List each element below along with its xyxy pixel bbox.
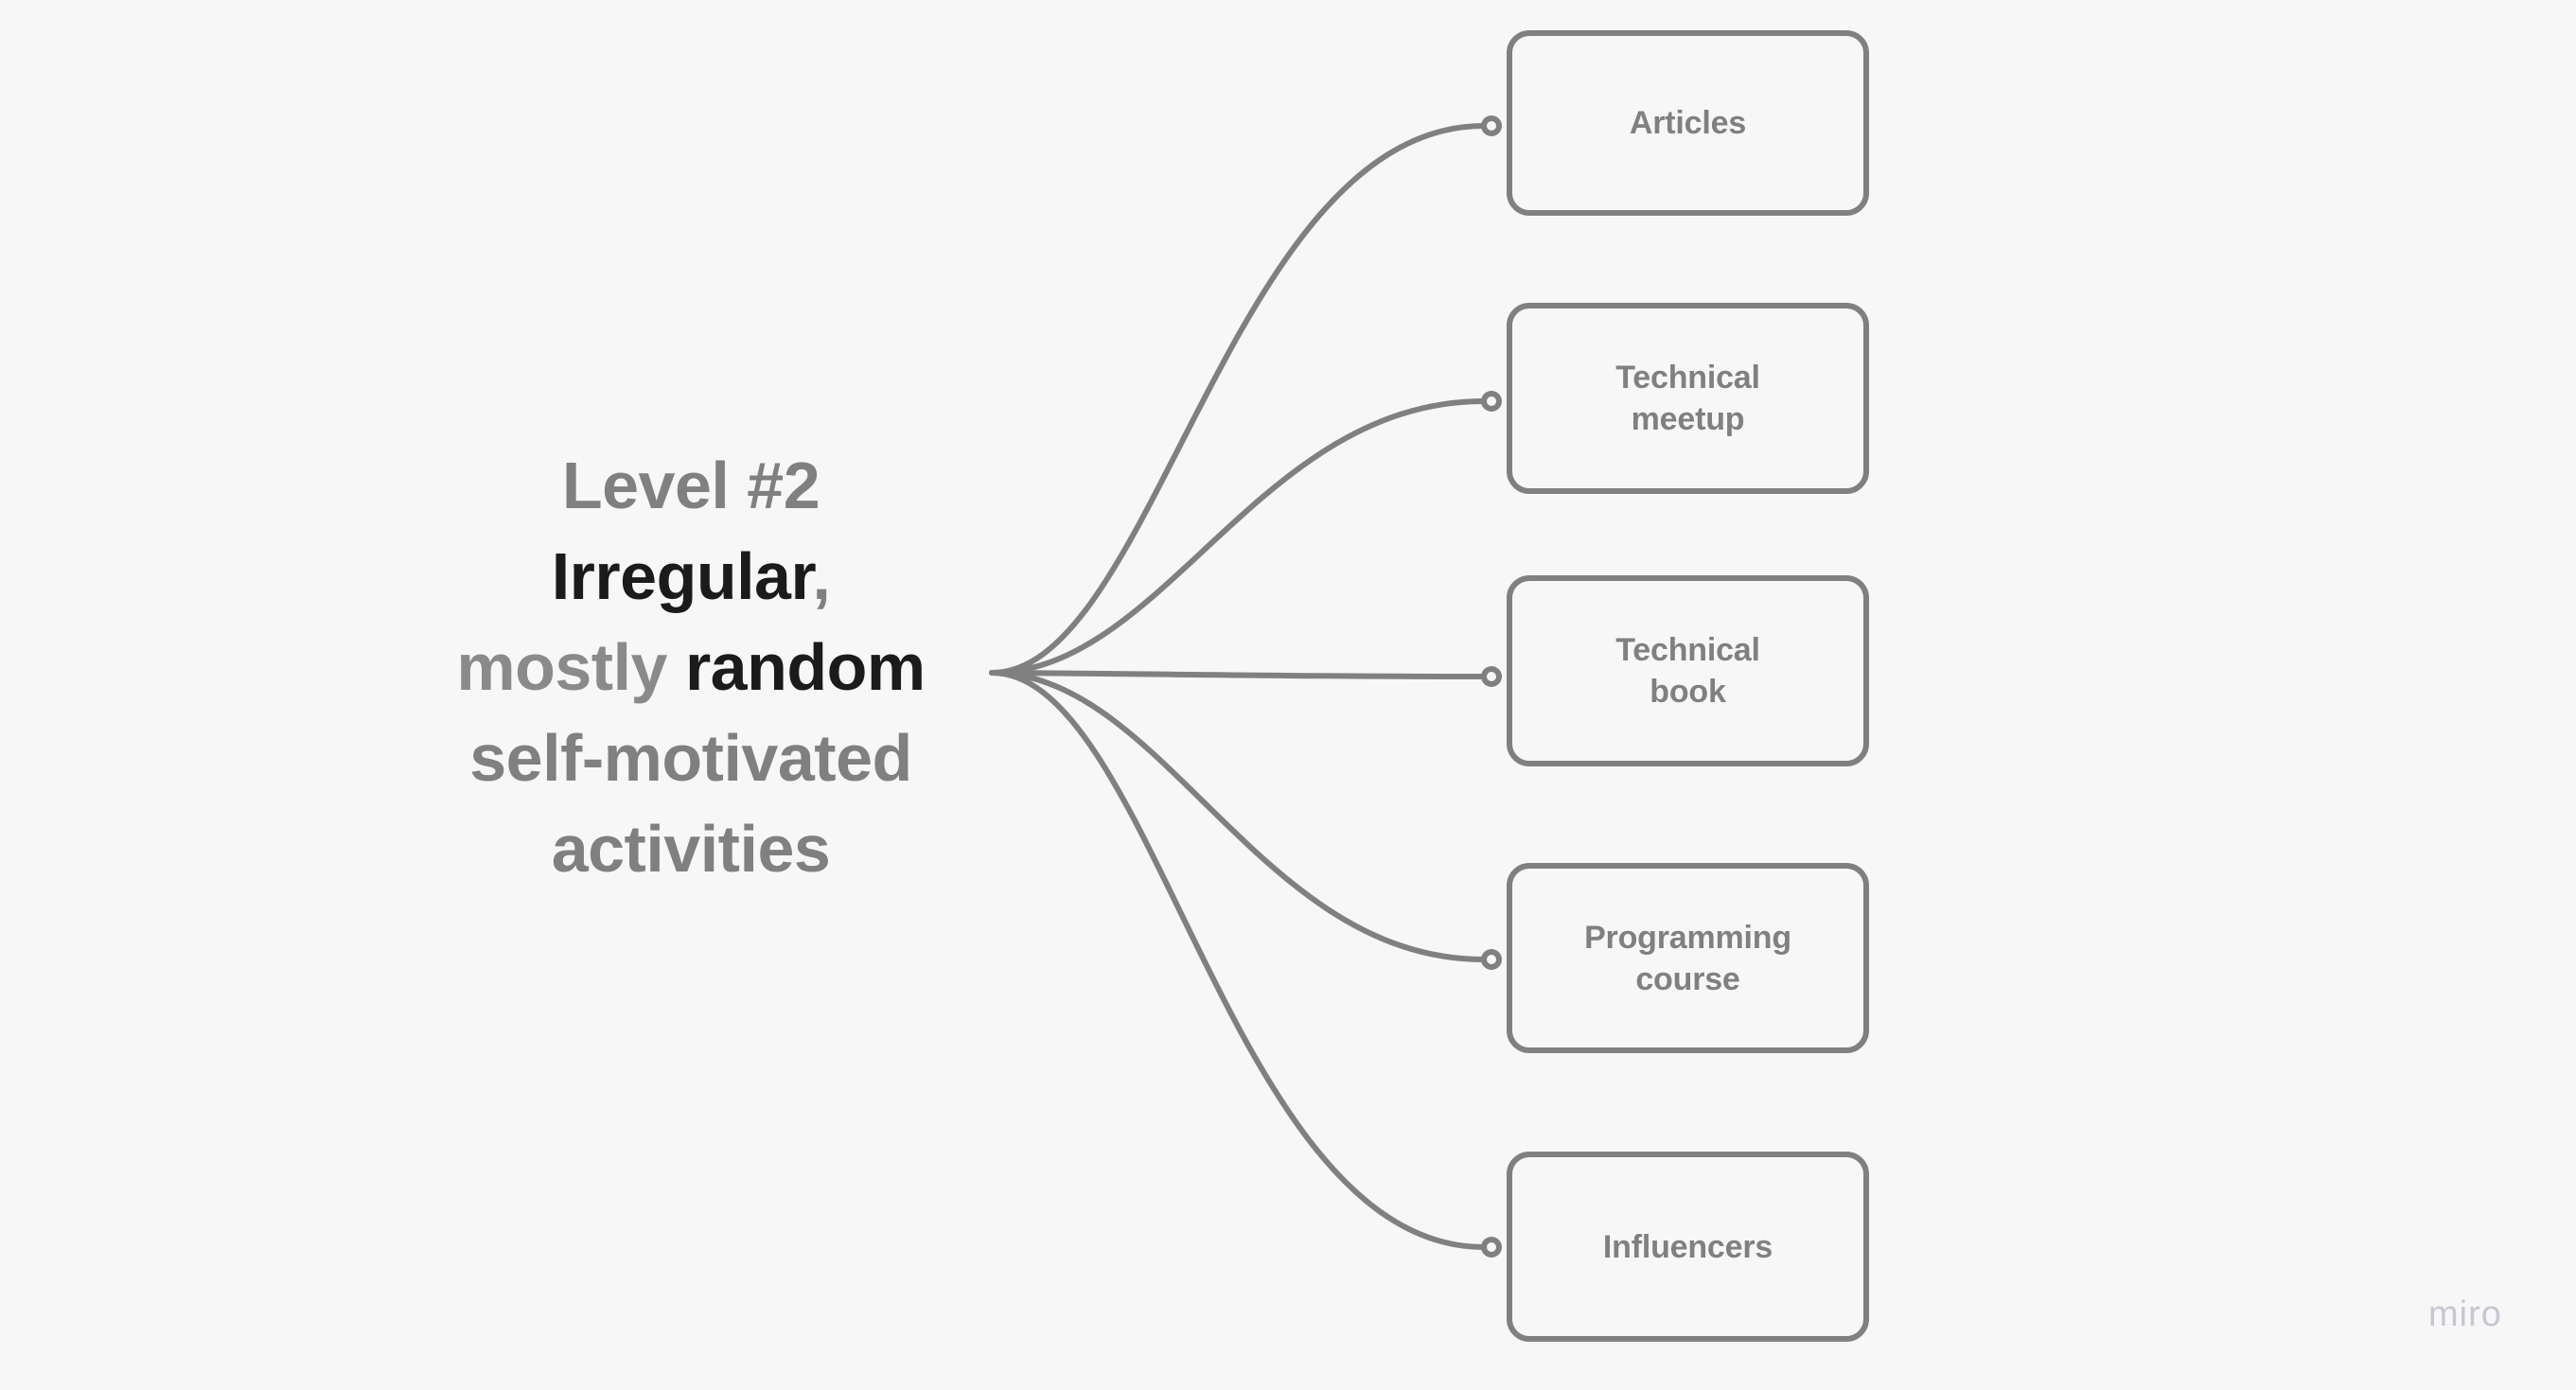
root-line-4: self-motivated — [469, 721, 912, 795]
node-label-influencers: Influencers — [1588, 1226, 1788, 1268]
node-influencers[interactable]: Influencers — [1507, 1152, 1869, 1342]
node-programming-course[interactable]: Programming course — [1507, 863, 1869, 1053]
connector-programming-course[interactable] — [992, 673, 1484, 959]
port-ring-articles[interactable] — [1481, 115, 1502, 136]
connector-path-technical-book — [992, 673, 1484, 677]
port-ring-technical-meetup[interactable] — [1481, 391, 1502, 412]
mindmap-canvas: Level #2 Irregular, mostly random self-m… — [0, 0, 2576, 1390]
port-ring-influencers[interactable] — [1481, 1237, 1502, 1258]
root-line-5: activities — [552, 812, 831, 886]
port-ring-technical-book[interactable] — [1481, 666, 1502, 687]
root-line-2-tail: , — [812, 539, 830, 613]
miro-watermark: miro — [2428, 1294, 2502, 1335]
node-label-articles: Articles — [1614, 102, 1761, 144]
connector-influencers[interactable] — [992, 673, 1484, 1247]
root-line-3-head: mostly — [456, 630, 685, 704]
connector-articles[interactable] — [992, 126, 1484, 673]
connector-technical-meetup[interactable] — [992, 401, 1484, 673]
connector-path-articles — [992, 126, 1484, 673]
root-node-label[interactable]: Level #2 Irregular, mostly random self-m… — [360, 440, 1022, 894]
node-articles[interactable]: Articles — [1507, 30, 1869, 216]
connector-path-influencers — [992, 673, 1484, 1247]
port-ring-programming-course[interactable] — [1481, 949, 1502, 970]
node-label-technical-meetup: Technical meetup — [1600, 357, 1775, 440]
root-line-1: Level #2 — [562, 449, 820, 522]
connector-path-technical-meetup — [992, 401, 1484, 673]
node-technical-book[interactable]: Technical book — [1507, 575, 1869, 766]
connector-technical-book[interactable] — [992, 673, 1484, 677]
node-technical-meetup[interactable]: Technical meetup — [1507, 303, 1869, 494]
node-label-programming-course: Programming course — [1569, 917, 1807, 1000]
node-label-technical-book: Technical book — [1600, 629, 1775, 713]
root-line-2-emphasis: Irregular — [552, 539, 813, 613]
root-line-3-emphasis: random — [685, 630, 926, 704]
connector-path-programming-course — [992, 673, 1484, 959]
